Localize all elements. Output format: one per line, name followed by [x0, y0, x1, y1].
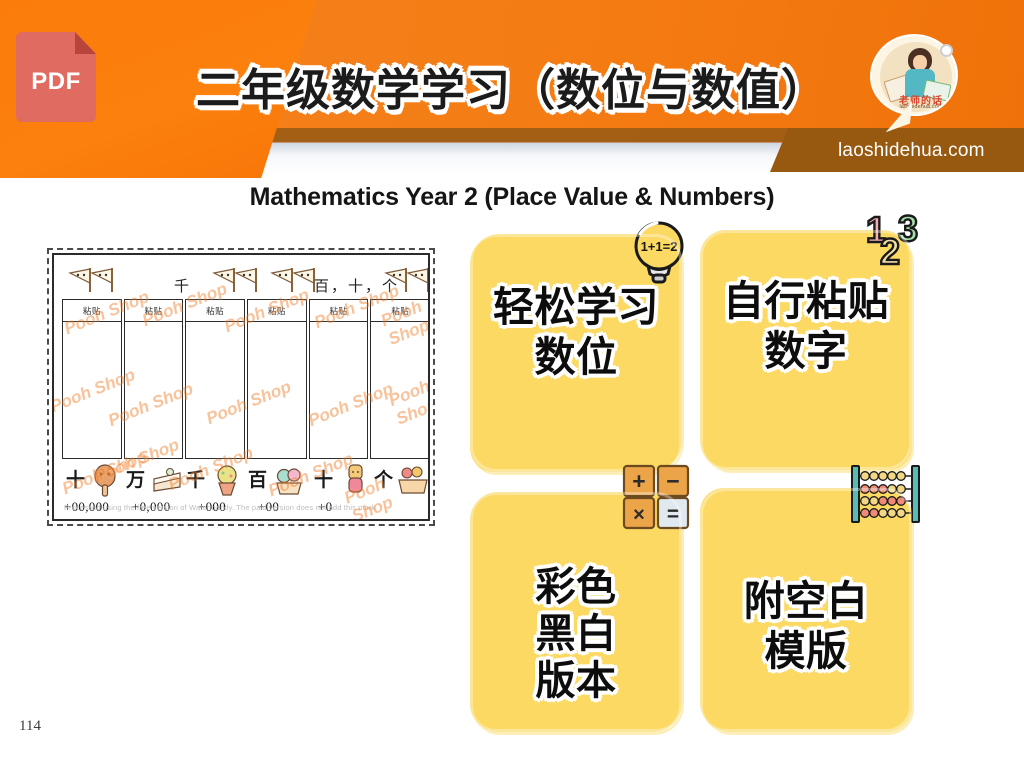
svg-text:3: 3: [898, 208, 918, 249]
worksheet-inner-frame: 千 百，十，个 粘贴 粘贴 粘贴: [52, 253, 430, 521]
worksheet-column-body: [63, 322, 121, 458]
worksheet-column-paste-label: 粘贴: [248, 300, 306, 322]
icepop-sticker-icon: [338, 463, 372, 497]
worksheet-column[interactable]: 粘贴: [185, 299, 245, 459]
fruitcup-sticker-icon: [396, 463, 430, 497]
worksheet-unit-ten: 十: [66, 465, 85, 492]
worksheet-header-row: 千 百，十，个: [62, 261, 428, 299]
worksheet-column-paste-label: 粘贴: [186, 300, 244, 322]
popsicle-sticker-icon: [88, 463, 122, 497]
watermark-note: Processed using the free version of Wate…: [64, 503, 424, 512]
logo-magnifier-icon: [940, 44, 953, 57]
worksheet-unit-hundred: 百: [248, 465, 267, 492]
abacus-icon: [848, 464, 924, 524]
bunting-flag-icon: [270, 267, 316, 293]
worksheet-column[interactable]: 粘贴: [247, 299, 307, 459]
svg-text:−: −: [666, 468, 679, 494]
card-label: 附空白 模版: [700, 576, 912, 676]
logo-teacher-face: [913, 55, 927, 70]
icecream-sticker-icon: [210, 463, 244, 497]
pdf-icon-label: PDF: [16, 68, 96, 96]
worksheet-column[interactable]: 粘贴: [124, 299, 184, 459]
logo-brand-url: laoshidehua.com: [886, 104, 956, 110]
worksheet-column[interactable]: 粘贴: [62, 299, 122, 459]
svg-text:1+1=2: 1+1=2: [641, 239, 678, 254]
card-label: 轻松学习 数位: [470, 282, 682, 382]
worksheet-columns: 粘贴 粘贴 粘贴 粘贴 粘贴 粘贴: [62, 299, 430, 459]
page-header: laoshidehua.com PDF 二年级数学学习（数位与数值） 老师的话 …: [0, 0, 1024, 178]
worksheet-column-body: [186, 322, 244, 458]
worksheet-column-paste-label: 粘贴: [63, 300, 121, 322]
bunting-flag-icon: [68, 267, 114, 293]
worksheet-column-body: [248, 322, 306, 458]
sundae-sticker-icon: [272, 463, 306, 497]
worksheet-unit-ten-2: 十: [314, 465, 333, 492]
bunting-flag-icon: [212, 267, 258, 293]
svg-text:=: =: [667, 503, 679, 526]
brand-logo[interactable]: 老师的话 laoshidehua.com: [866, 30, 962, 134]
worksheet-column-body: [310, 322, 368, 458]
card-label: 彩色 黑白 版本: [470, 564, 682, 706]
svg-text:×: ×: [633, 504, 645, 526]
header-website-url: laoshidehua.com: [838, 140, 985, 162]
pdf-icon: PDF: [16, 32, 96, 122]
card-easy-learning[interactable]: 1+1=2 轻松学习 数位: [470, 234, 682, 472]
cake-sticker-icon: [150, 463, 184, 497]
feature-cards: 1+1=2 轻松学习 数位 1 2 3 自行粘贴 数字: [462, 224, 942, 734]
card-label: 自行粘贴 数字: [700, 276, 912, 376]
page-title: 二年级数学学习（数位与数值）: [196, 54, 826, 118]
worksheet-column-paste-label: 粘贴: [125, 300, 183, 322]
worksheet-column[interactable]: 粘贴: [370, 299, 430, 459]
worksheet-label-thousand: 千: [174, 275, 191, 296]
svg-text:+: +: [632, 468, 645, 494]
page-number: 114: [19, 718, 41, 735]
worksheet-column[interactable]: 粘贴: [309, 299, 369, 459]
card-color-bw[interactable]: + − × = 彩色 黑白 版本: [470, 492, 682, 732]
math-operators-icon: + − × =: [620, 464, 696, 530]
card-blank-template[interactable]: 附空白 模版: [700, 488, 912, 732]
bunting-flag-icon: [384, 267, 430, 293]
worksheet-column-paste-label: 粘贴: [371, 300, 429, 322]
worksheet-column-body: [125, 322, 183, 458]
worksheet-preview[interactable]: 千 百，十，个 粘贴 粘贴 粘贴: [47, 248, 435, 526]
card-self-paste[interactable]: 1 2 3 自行粘贴 数字: [700, 230, 912, 470]
worksheet-unit-thousand: 千: [186, 465, 205, 492]
worksheet-column-body: [371, 322, 429, 458]
worksheet-unit-one: 个: [374, 465, 393, 492]
worksheet-unit-tenthousand: 万: [126, 465, 145, 492]
numbers-123-icon: 1 2 3: [852, 208, 928, 280]
worksheet-column-paste-label: 粘贴: [310, 300, 368, 322]
